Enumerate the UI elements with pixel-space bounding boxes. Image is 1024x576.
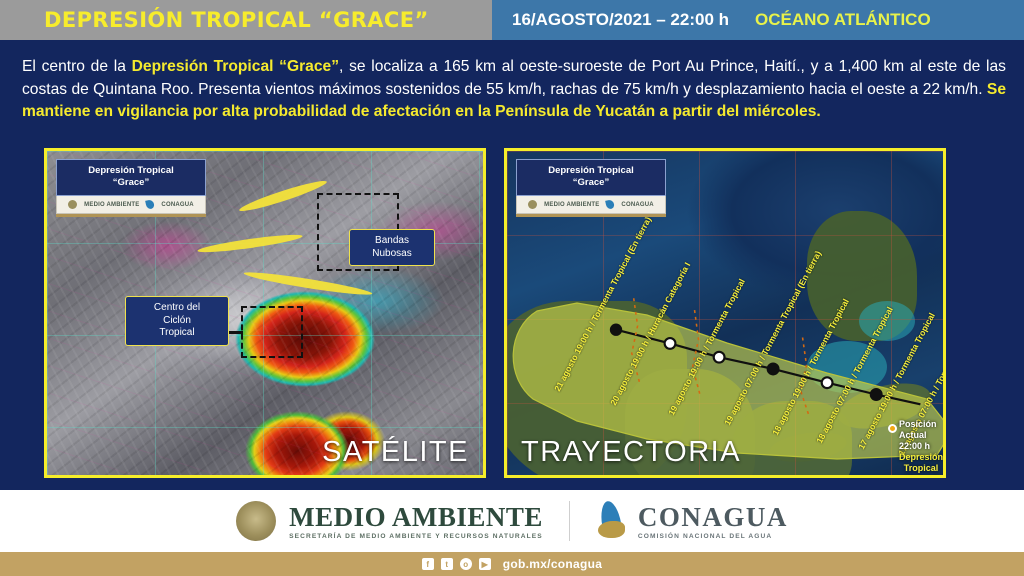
satellite-caption: SATÉLITE — [322, 436, 469, 469]
current-position-label: Posición Actual 22:00 h Depresión Tropic… — [899, 419, 943, 478]
annotation-bandas-nubosas: Bandas Nubosas — [349, 229, 435, 266]
logo-medio-ambiente: MEDIO AMBIENTE SECRETARÍA DE MEDIO AMBIE… — [236, 501, 543, 541]
mexico-seal-icon — [68, 200, 77, 209]
overlay-logo-bar: MEDIO AMBIENTE CONAGUA — [516, 196, 666, 214]
logo-group: MEDIO AMBIENTE SECRETARÍA DE MEDIO AMBIE… — [236, 501, 788, 541]
current-position-line2: Depresión Tropical — [899, 452, 943, 474]
satellite-panel[interactable]: Centro del Ciclón Tropical Bandas Nubosa… — [44, 148, 486, 478]
conagua-subtitle: COMISIÓN NACIONAL DEL AGUA — [638, 533, 788, 540]
annotation-line-1: Bandas — [358, 235, 426, 248]
bulletin-datetime: 16/AGOSTO/2021 – 22:00 h — [512, 10, 729, 30]
facebook-icon[interactable]: f — [422, 558, 434, 570]
center-leader-line — [229, 331, 243, 334]
social-bar: f t o ▶ gob.mx/conagua — [0, 552, 1024, 576]
logo-divider — [569, 501, 570, 541]
overlay-logo-medio-ambiente: MEDIO AMBIENTE — [84, 202, 139, 208]
water-drop-icon — [606, 199, 616, 209]
center-marker-box — [241, 306, 303, 358]
annotation-line-2: Ciclón — [134, 315, 220, 328]
trajectory-panel[interactable]: 21 agosto 19:00 h / Tormenta Tropical (E… — [504, 148, 946, 478]
header-title-section: DEPRESIÓN TROPICAL “GRACE” — [0, 0, 492, 40]
youtube-icon[interactable]: ▶ — [479, 558, 491, 570]
current-position-line3: “Grace” — [899, 474, 943, 478]
overlay-gold-strip — [56, 214, 206, 217]
logo-conagua: CONAGUA COMISIÓN NACIONAL DEL AGUA — [596, 501, 788, 541]
current-position-line1: Posición Actual 22:00 h — [899, 419, 943, 452]
bulletin-page: DEPRESIÓN TROPICAL “GRACE” 16/AGOSTO/202… — [0, 0, 1024, 576]
medio-ambiente-subtitle: SECRETARÍA DE MEDIO AMBIENTE Y RECURSOS … — [289, 533, 543, 540]
overlay-title-line2: “Grace” — [60, 177, 202, 189]
current-position-marker — [888, 424, 897, 433]
trajectory-caption: TRAYECTORIA — [521, 436, 741, 469]
twitter-icon[interactable]: t — [441, 558, 453, 570]
annotation-centro-ciclon-tropical: Centro del Ciclón Tropical — [125, 296, 229, 346]
overlay-logo-conagua: CONAGUA — [161, 202, 193, 208]
trajectory-overlay-title: Depresión Tropical “Grace” MEDIO AMBIENT… — [516, 159, 666, 217]
website-url[interactable]: gob.mx/conagua — [503, 557, 603, 571]
conagua-water-drop-icon — [596, 501, 627, 541]
overlay-title-line1: Depresión Tropical — [60, 165, 202, 177]
annotation-line-3: Tropical — [134, 327, 220, 340]
bulletin-part1: El centro de la — [22, 58, 132, 75]
overlay-gold-strip — [516, 214, 666, 217]
footer-logos: MEDIO AMBIENTE SECRETARÍA DE MEDIO AMBIE… — [0, 490, 1024, 552]
overlay-title-box: Depresión Tropical “Grace” — [56, 159, 206, 196]
instagram-icon[interactable]: o — [460, 558, 472, 570]
satellite-overlay-title: Depresión Tropical “Grace” MEDIO AMBIENT… — [56, 159, 206, 217]
overlay-logo-conagua: CONAGUA — [621, 202, 653, 208]
overlay-title-box: Depresión Tropical “Grace” — [516, 159, 666, 196]
annotation-line-2: Nubosas — [358, 248, 426, 261]
overlay-title-line1: Depresión Tropical — [520, 165, 662, 177]
annotation-line-1: Centro del — [134, 302, 220, 315]
imagery-panels: Centro del Ciclón Tropical Bandas Nubosa… — [44, 148, 1006, 478]
overlay-logo-bar: MEDIO AMBIENTE CONAGUA — [56, 196, 206, 214]
bulletin-highlight-storm: Depresión Tropical “Grace” — [132, 58, 339, 75]
bulletin-text: El centro de la Depresión Tropical “Grac… — [22, 56, 1006, 124]
header-meta-section: 16/AGOSTO/2021 – 22:00 h OCÉANO ATLÁNTIC… — [492, 0, 1024, 40]
header-bar: DEPRESIÓN TROPICAL “GRACE” 16/AGOSTO/202… — [0, 0, 1024, 40]
page-title: DEPRESIÓN TROPICAL “GRACE” — [44, 8, 429, 32]
conagua-name: CONAGUA — [638, 503, 788, 531]
ocean-basin-label: OCÉANO ATLÁNTICO — [755, 10, 931, 30]
medio-ambiente-name: MEDIO AMBIENTE — [289, 503, 543, 531]
mexico-coat-of-arms-icon — [236, 501, 276, 541]
water-drop-icon — [146, 199, 156, 209]
overlay-logo-medio-ambiente: MEDIO AMBIENTE — [544, 202, 599, 208]
overlay-title-line2: “Grace” — [520, 177, 662, 189]
mexico-seal-icon — [528, 200, 537, 209]
